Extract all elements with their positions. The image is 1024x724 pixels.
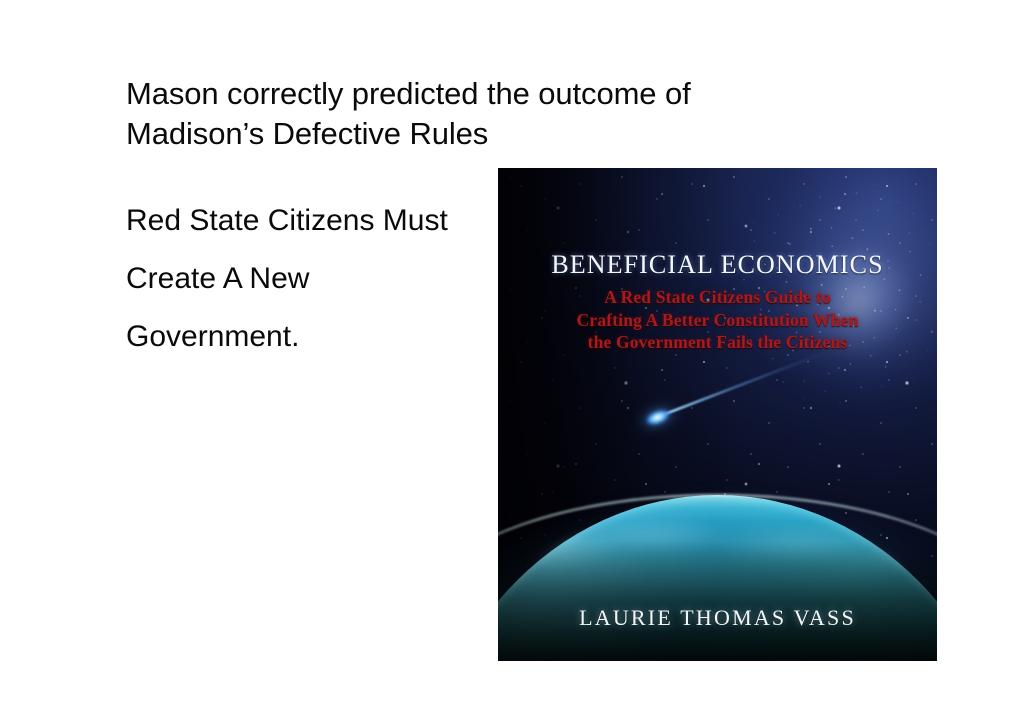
slide-body-text: Red State Citizens Must Create A New Gov… [126, 192, 526, 366]
slide-body-line-1: Red State Citizens Must [126, 192, 526, 250]
book-subtitle-line-1: A Red State Citizens Guide to [498, 286, 937, 309]
book-author: LAURIE THOMAS VASS [498, 605, 937, 631]
page-title: Mason correctly predicted the outcome of… [126, 74, 826, 154]
book-cover-image: BENEFICIAL ECONOMICS A Red State Citizen… [498, 168, 937, 661]
earth-limb [498, 481, 937, 661]
page-title-line-2: Madison’s Defective Rules [126, 114, 826, 154]
slide-body-line-3: Government. [126, 308, 526, 366]
book-subtitle: A Red State Citizens Guide to Crafting A… [498, 286, 937, 354]
page-title-line-1: Mason correctly predicted the outcome of [126, 74, 826, 114]
book-title: BENEFICIAL ECONOMICS [498, 250, 937, 280]
slide-body-line-2: Create A New [126, 250, 526, 308]
book-subtitle-line-3: the Government Fails the Citizens [498, 331, 937, 354]
book-subtitle-line-2: Crafting A Better Constitution When [498, 309, 937, 332]
earth-shadow-vignette [498, 541, 937, 661]
